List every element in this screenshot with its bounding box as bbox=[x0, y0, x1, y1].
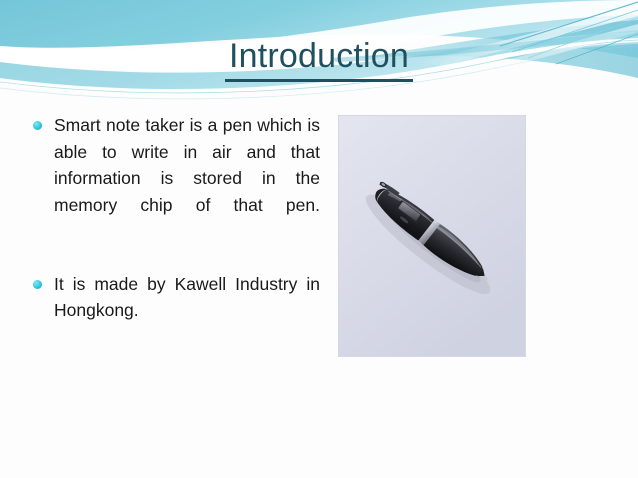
content-placeholder: Smart note taker is a pen which is able … bbox=[28, 112, 320, 350]
bullet-item: It is made by Kawell Industry in Hongkon… bbox=[28, 271, 320, 351]
bullet-dot-icon bbox=[33, 280, 42, 289]
bullet-text: Smart note taker is a pen which is able … bbox=[54, 112, 320, 245]
smart-pen-image bbox=[338, 115, 526, 357]
bullet-item: Smart note taker is a pen which is able … bbox=[28, 112, 320, 245]
page-title: Introduction bbox=[225, 36, 413, 82]
bullet-dot-icon bbox=[33, 121, 42, 130]
bullet-text: It is made by Kawell Industry in Hongkon… bbox=[54, 271, 320, 351]
presentation-slide: Introduction Smart note taker is a pen w… bbox=[0, 0, 638, 478]
title-container: Introduction bbox=[0, 36, 638, 82]
